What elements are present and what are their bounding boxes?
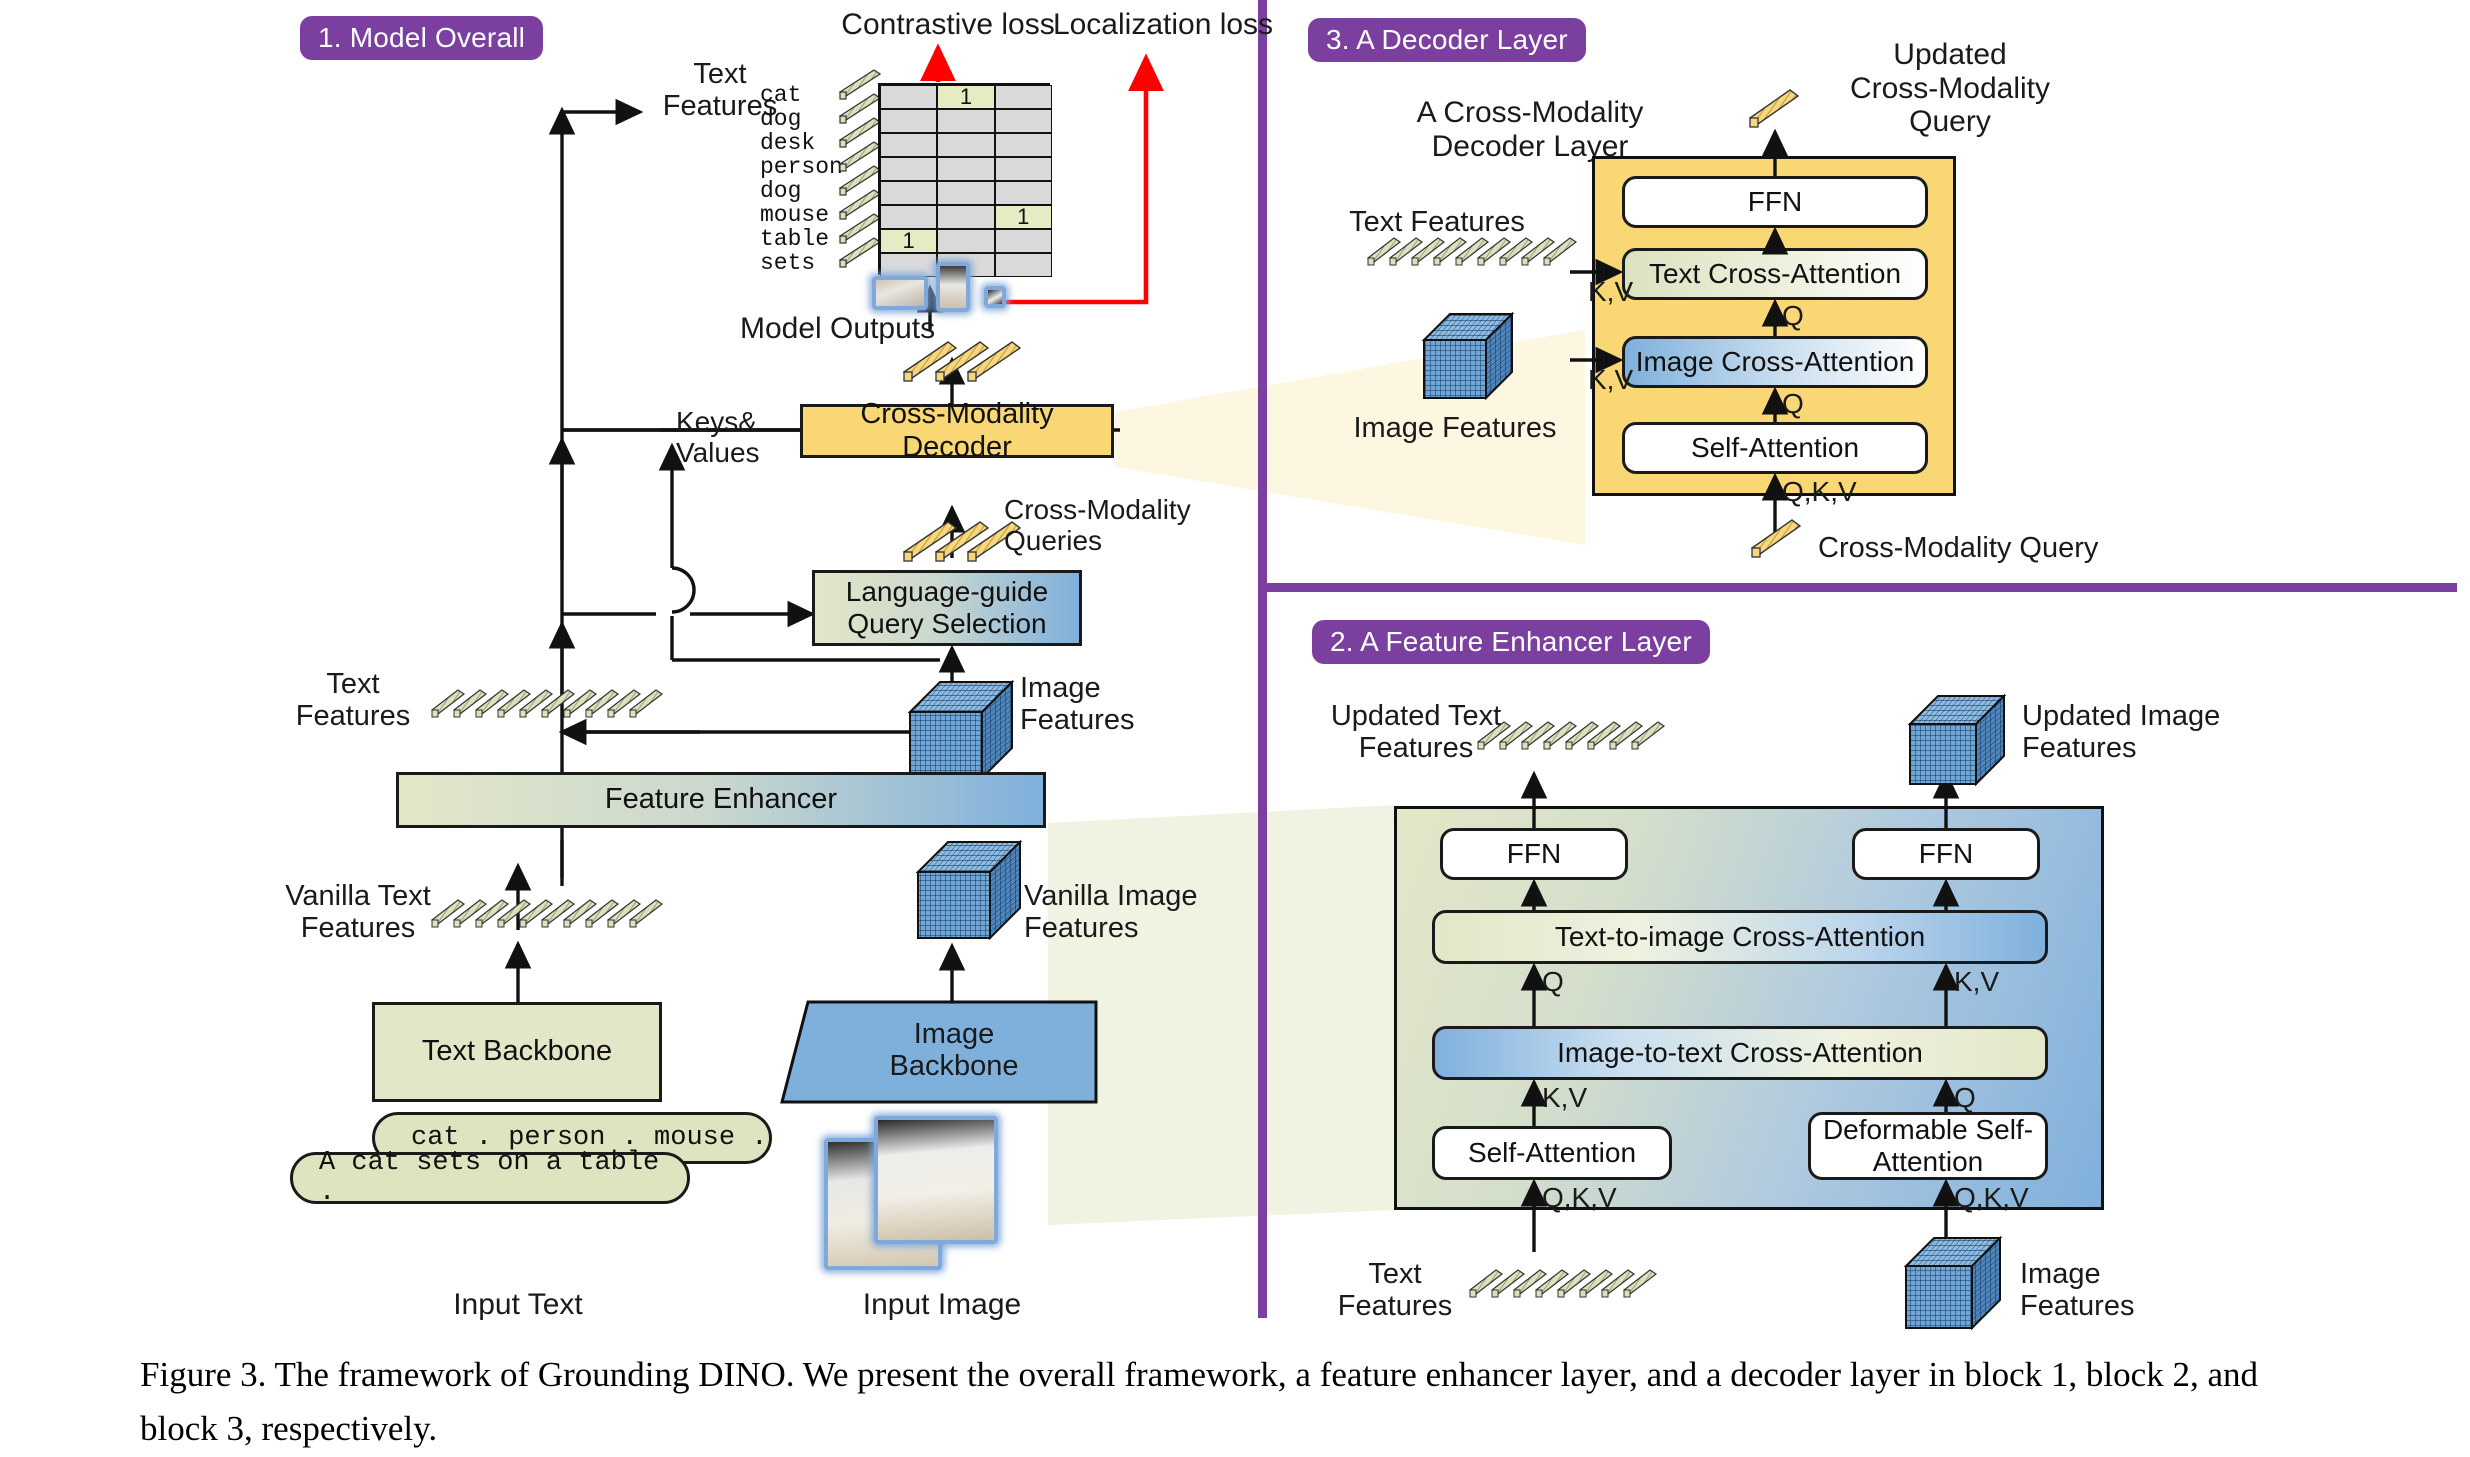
cube-block2-updated-image-features (1910, 696, 2004, 784)
cube-block2-bottom-image-features (1906, 1238, 2000, 1328)
label-block2-image-features: Image Features (2020, 1258, 2180, 1323)
block2-bottom-features (0, 0, 2470, 1447)
label-block2-text-features: Text Features (1320, 1258, 1470, 1323)
figure-caption: Figure 3. The framework of Grounding DIN… (140, 1348, 2320, 1457)
figure-grounding-dino-framework: 1. Model Overall (0, 0, 2470, 1447)
